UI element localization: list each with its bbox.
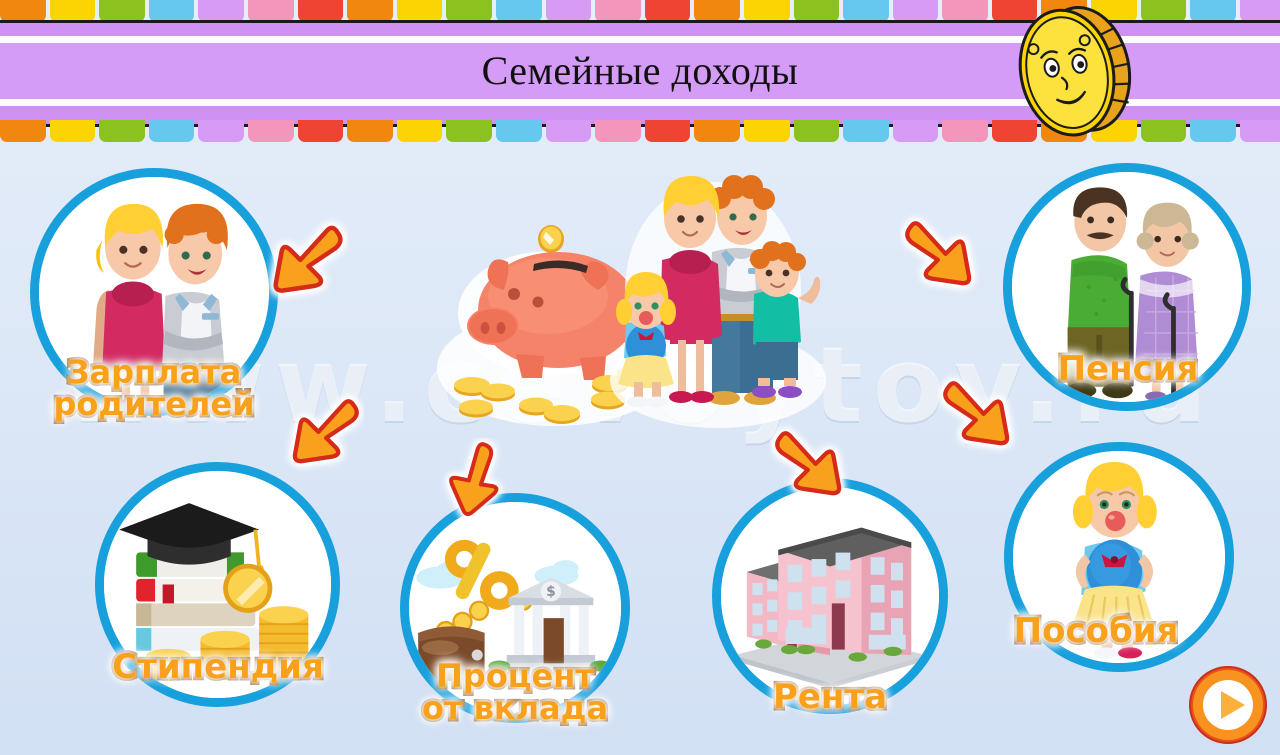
decorative-tile [645, 0, 691, 22]
card-label-benefits: Пособия [962, 614, 1230, 648]
svg-text:$: $ [546, 584, 556, 600]
decorative-tile [794, 0, 840, 22]
card-label-pension: Пенсия [1000, 352, 1256, 386]
decorative-tile [694, 0, 740, 22]
decorative-tile [0, 0, 46, 22]
decorative-tile [298, 120, 344, 142]
decorative-tile [496, 0, 542, 22]
decorative-tile [1141, 120, 1187, 142]
family-illustration [608, 160, 828, 432]
decorative-tile [149, 120, 195, 142]
arrow-down-left-2 [278, 388, 364, 474]
decorative-tile [1190, 120, 1236, 142]
card-label-interest: Процент от вклада [392, 660, 638, 724]
decorative-tile [496, 120, 542, 142]
decorative-tile [347, 0, 393, 22]
decorative-tile [595, 0, 641, 22]
decorative-tile [446, 0, 492, 22]
decorative-tile [645, 120, 691, 142]
decorative-tile [546, 120, 592, 142]
smiling-coin-mascot-icon [1003, 2, 1138, 142]
decorative-tile [347, 120, 393, 142]
decorative-tile [248, 120, 294, 142]
arrow-down-right-6 [770, 420, 856, 506]
decorative-tile [546, 0, 592, 22]
card-label-salary: Зарплата родителей [14, 356, 294, 420]
decorative-tile [50, 0, 96, 22]
decorative-tile [99, 120, 145, 142]
decorative-tile [149, 0, 195, 22]
decorative-tile [1240, 120, 1280, 142]
decorative-tile [248, 0, 294, 22]
apartment-buildings-icon [721, 487, 939, 705]
arrow-down-left-1 [258, 214, 348, 304]
decorative-tile [843, 120, 889, 142]
card-label-rent: Рента [704, 680, 956, 714]
decorative-tile [942, 120, 988, 142]
decorative-tile [397, 120, 443, 142]
decorative-tile [1141, 0, 1187, 22]
card-illustration-rent [721, 487, 939, 705]
slide-canvas: www.cevoytoy.ru [0, 0, 1280, 755]
decorative-tile [99, 0, 145, 22]
decorative-tile [1190, 0, 1236, 22]
decorative-tile [446, 120, 492, 142]
decorative-tile [744, 0, 790, 22]
decorative-tile [942, 0, 988, 22]
decorative-tile [893, 120, 939, 142]
play-button[interactable] [1188, 665, 1268, 745]
decorative-tile [595, 120, 641, 142]
decorative-tile [744, 120, 790, 142]
decorative-tile [198, 0, 244, 22]
decorative-tile [893, 0, 939, 22]
decorative-tile [843, 0, 889, 22]
decorative-tile [694, 120, 740, 142]
decorative-tile [794, 120, 840, 142]
card-label-stipend: Стипендия [78, 650, 358, 684]
arrow-down-left-5 [428, 438, 508, 518]
decorative-tile [0, 120, 46, 142]
decorative-tile [50, 120, 96, 142]
decorative-tile [1240, 0, 1280, 22]
arrow-down-right-4 [938, 370, 1024, 456]
arrow-down-right-3 [900, 210, 986, 296]
decorative-tile [198, 120, 244, 142]
decorative-tile [397, 0, 443, 22]
page-header: Семейные доходы [0, 0, 1280, 142]
decorative-tile [298, 0, 344, 22]
